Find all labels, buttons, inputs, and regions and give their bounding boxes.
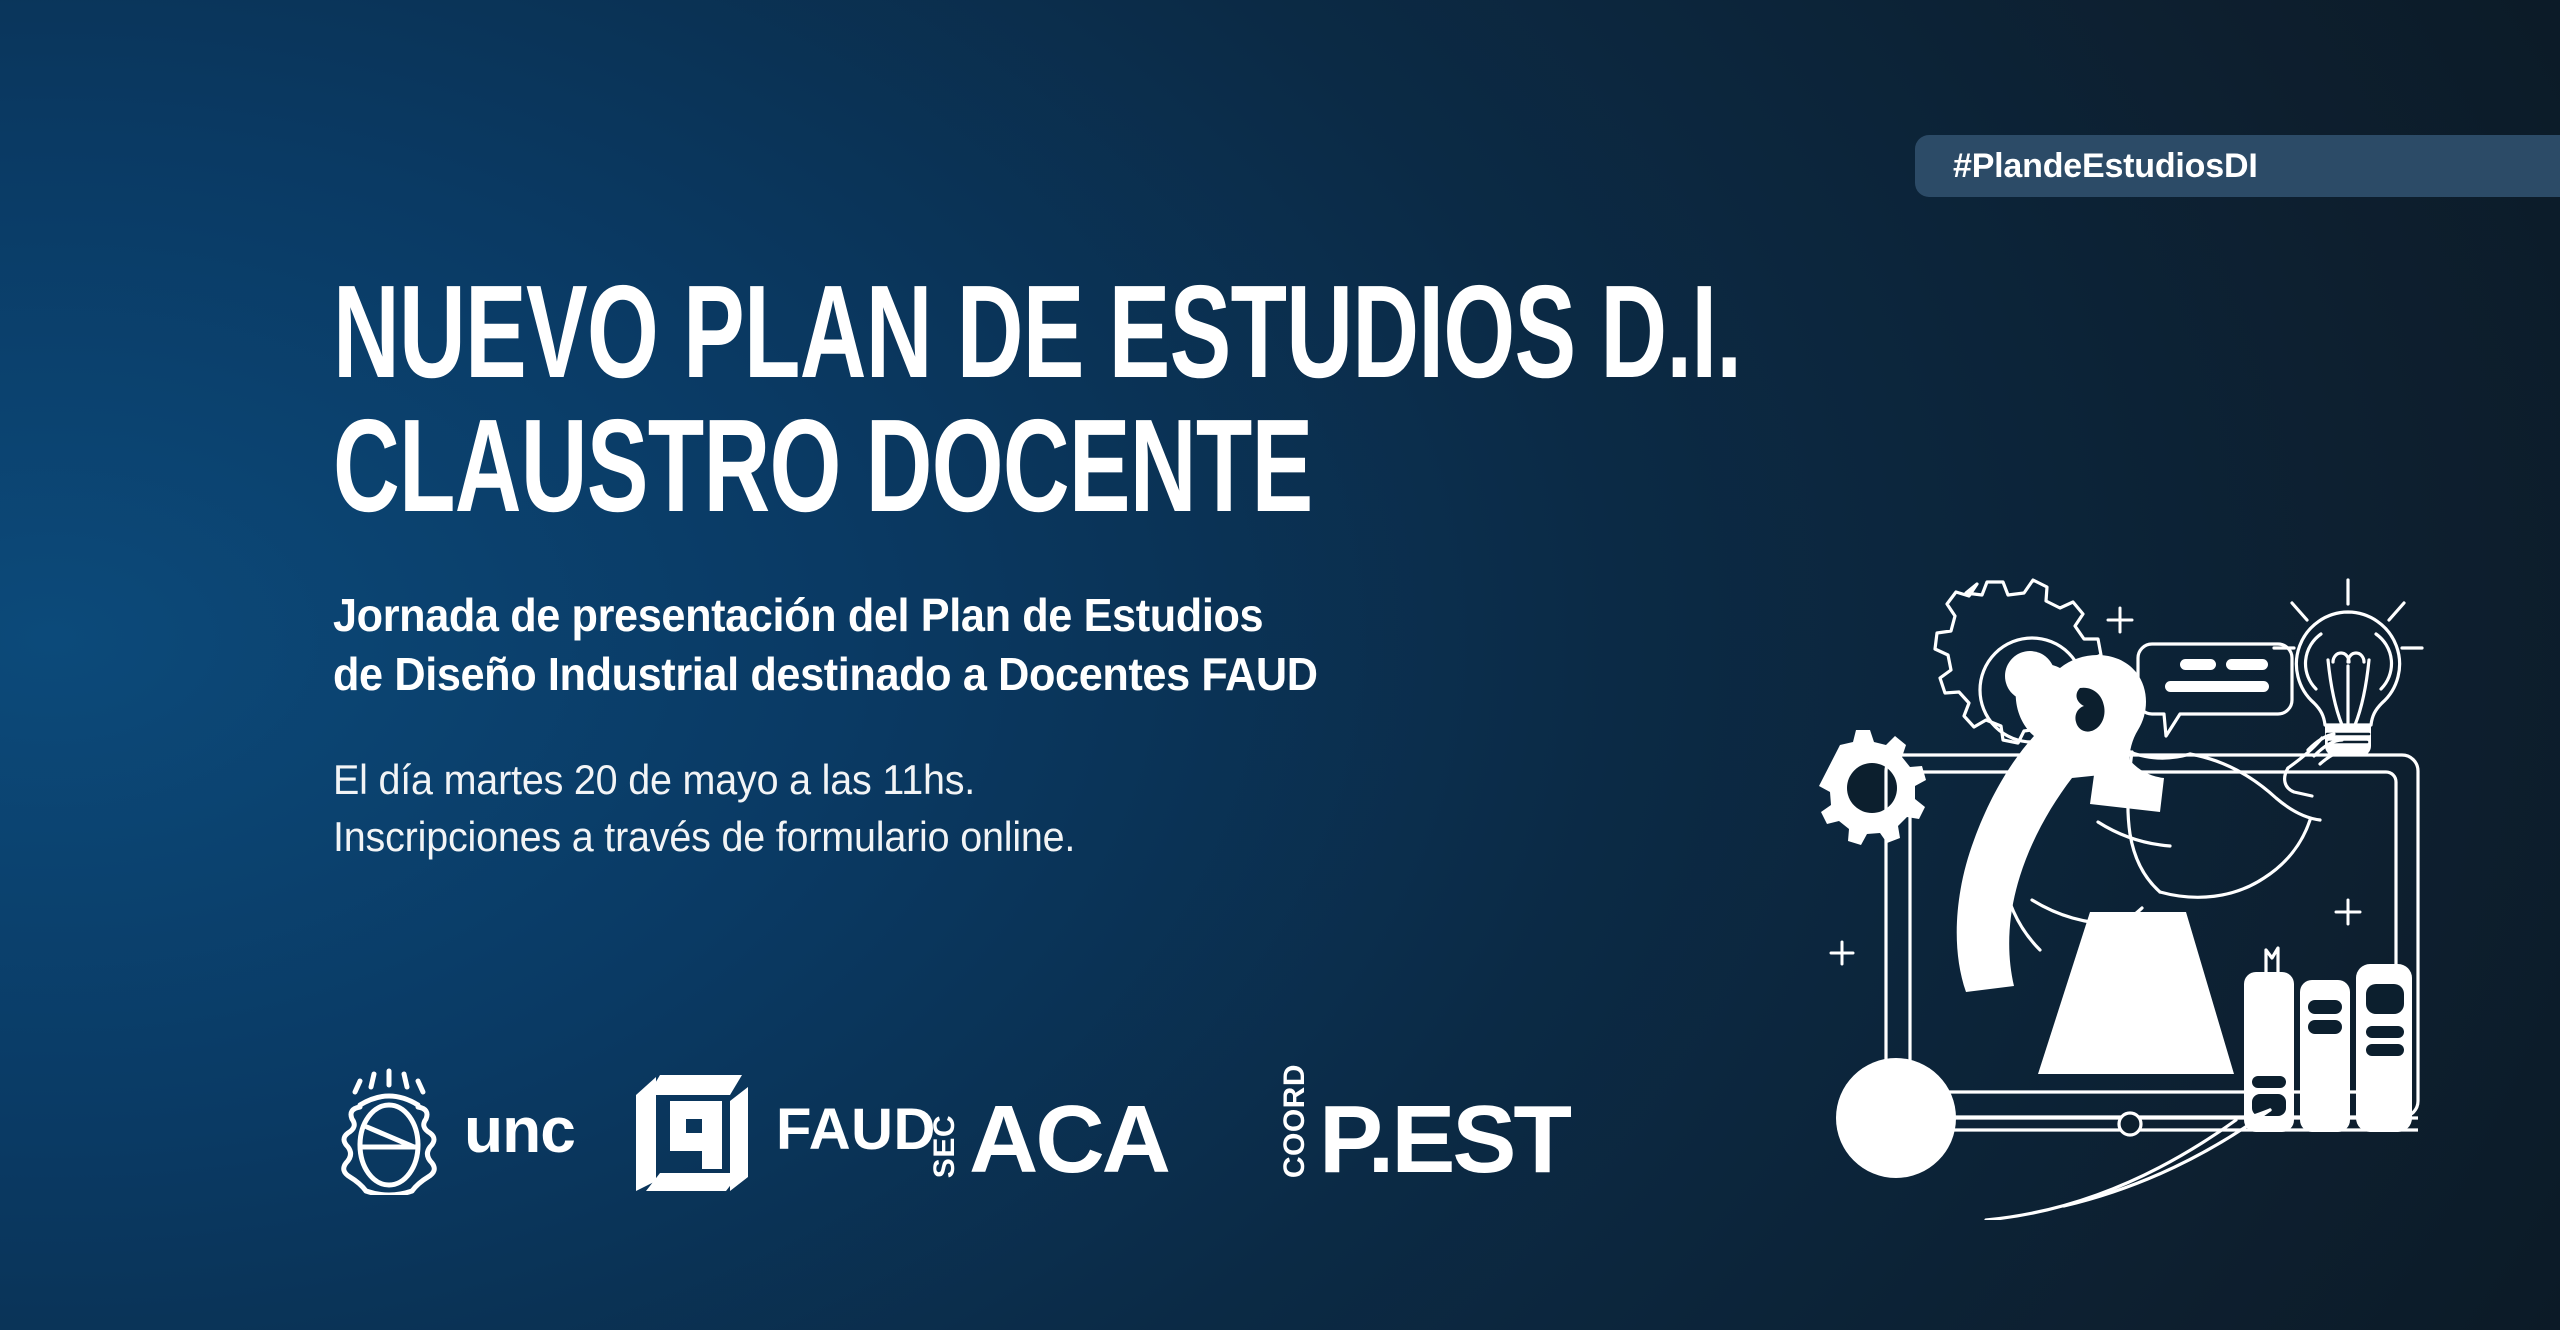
logo-sec-prefix: SEC	[930, 1115, 960, 1178]
hashtag-text: #PlandeEstudiosDI	[1953, 147, 2258, 186]
presentation-illustration	[1780, 540, 2460, 1220]
logo-faud-label: FAUD	[776, 1101, 936, 1159]
unc-crest-icon	[330, 1065, 448, 1195]
body-text: El día martes 20 de mayo a las 11hs. Ins…	[333, 752, 1762, 865]
sec-aca-stack: SEC ACA	[930, 1080, 1168, 1180]
text-content: NUEVO PLAN DE ESTUDIOS D.I. CLAUSTRO DOC…	[333, 268, 1853, 865]
logo-faud: FAUD	[630, 1055, 930, 1205]
coord-pest-stack: COORD P.EST	[1280, 1080, 1569, 1180]
logo-sec-aca: SEC ACA	[930, 1055, 1280, 1205]
logo-aca-label: ACA	[969, 1101, 1168, 1180]
subtitle-line-1: Jornada de presentación del Plan de Estu…	[333, 586, 1762, 645]
circle-icon	[1836, 1058, 1956, 1178]
logo-coord-prefix: COORD	[1280, 1064, 1310, 1178]
page-title: NUEVO PLAN DE ESTUDIOS D.I. CLAUSTRO DOC…	[333, 268, 1853, 530]
subtitle: Jornada de presentación del Plan de Estu…	[333, 586, 1762, 704]
hashtag-badge: #PlandeEstudiosDI	[1915, 135, 2560, 197]
title-line-1: NUEVO PLAN DE ESTUDIOS D.I.	[333, 268, 1397, 396]
logo-coord-pest: COORD P.EST	[1280, 1055, 1680, 1205]
lightbulb-icon	[2274, 580, 2422, 756]
logo-unc: unc	[330, 1055, 630, 1205]
subtitle-line-2: de Diseño Industrial destinado a Docente…	[333, 645, 1762, 704]
title-line-2: CLAUSTRO DOCENTE	[333, 402, 1397, 530]
speech-bubble-icon	[2138, 644, 2292, 736]
logo-pest-label: P.EST	[1319, 1101, 1569, 1180]
logo-row: unc	[330, 1055, 1680, 1205]
faud-mark-icon	[630, 1065, 754, 1195]
logo-unc-label: unc	[464, 1098, 575, 1162]
books-icon	[2244, 948, 2412, 1132]
poster-canvas: #PlandeEstudiosDI NUEVO PLAN DE ESTUDIOS…	[0, 0, 2560, 1330]
body-line-1: El día martes 20 de mayo a las 11hs.	[333, 752, 1762, 809]
body-line-2: Inscripciones a través de formulario onl…	[333, 809, 1762, 866]
